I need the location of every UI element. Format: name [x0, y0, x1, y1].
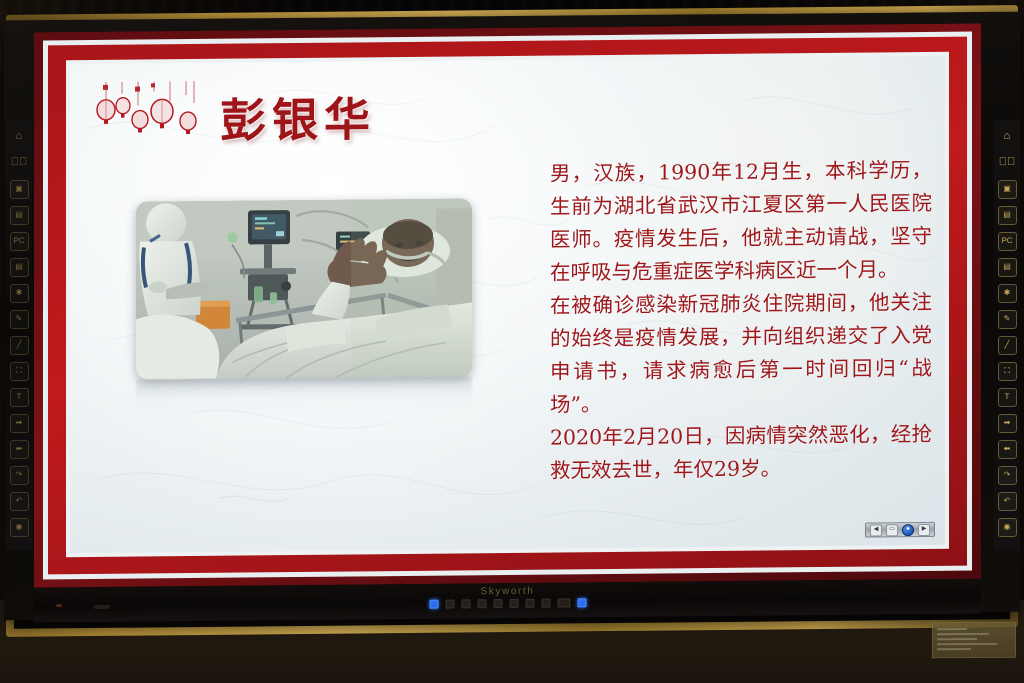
- display-screen[interactable]: 彭银华: [34, 23, 981, 587]
- text-tool-icon[interactable]: T: [998, 388, 1017, 407]
- undo-icon[interactable]: ↷: [998, 466, 1017, 485]
- record-icon[interactable]: ◉: [998, 518, 1017, 537]
- left-toolbar[interactable]: ⌂ ◀ﾟ ▣ ▤ PC ▤ ✱ ✎ ╱ ⛶ T ➡ ⬅ ↷ ↶ ◉: [6, 120, 32, 550]
- key-7[interactable]: [525, 599, 534, 608]
- pc-icon[interactable]: PC: [998, 232, 1017, 251]
- brand-logo: Skyworth: [481, 586, 535, 598]
- volume-icon[interactable]: ◀ﾟ: [998, 154, 1017, 173]
- presentation-slide[interactable]: 彭银华: [70, 56, 945, 553]
- lantern-decoration: [96, 81, 206, 144]
- pen-icon[interactable]: ✎: [10, 310, 29, 329]
- home-icon[interactable]: ⌂: [998, 128, 1017, 147]
- settings-icon[interactable]: ✱: [998, 284, 1017, 303]
- key-3[interactable]: [461, 599, 470, 608]
- previous-slide-button[interactable]: ◀: [870, 524, 882, 536]
- arrow-left-icon[interactable]: ⬅: [998, 440, 1017, 459]
- device-icon[interactable]: ▤: [10, 206, 29, 225]
- undo-icon[interactable]: ↷: [10, 466, 29, 485]
- next-slide-button[interactable]: ▶: [918, 523, 930, 535]
- pen-icon[interactable]: ✎: [998, 310, 1017, 329]
- redo-icon[interactable]: ↶: [998, 492, 1017, 511]
- paragraph-2: 在被确诊感染新冠肺炎住院期间，他关注的始终是疫情发展，并向组织递交了入党申请书，…: [550, 286, 932, 422]
- pc-icon[interactable]: PC: [10, 232, 29, 251]
- pen-options-button[interactable]: ▭: [886, 524, 898, 536]
- device-icon[interactable]: ▤: [998, 206, 1017, 225]
- key-menu[interactable]: [557, 598, 570, 607]
- record-icon[interactable]: ◉: [10, 518, 29, 537]
- key-4[interactable]: [477, 599, 486, 608]
- hdmi-icon[interactable]: ▤: [10, 258, 29, 277]
- redo-icon[interactable]: ↶: [10, 492, 29, 511]
- select-icon[interactable]: ⛶: [998, 362, 1017, 381]
- text-tool-icon[interactable]: T: [10, 388, 29, 407]
- key-6[interactable]: [509, 599, 518, 608]
- hdmi-icon[interactable]: ▤: [998, 258, 1017, 277]
- standby-led: [56, 604, 62, 607]
- key-5[interactable]: [493, 599, 502, 608]
- right-toolbar[interactable]: ⌂ ◀ﾟ ▣ ▤ PC ▤ ✱ ✎ ╱ ⛶ T ➡ ⬅ ↷ ↶ ◉: [994, 120, 1020, 550]
- arrow-right-icon[interactable]: ➡: [998, 414, 1017, 433]
- photo-reflection: [136, 376, 472, 415]
- select-icon[interactable]: ⛶: [10, 362, 29, 381]
- page-title: 彭银华: [220, 83, 376, 150]
- arrow-left-icon[interactable]: ⬅: [10, 440, 29, 459]
- line-tool-icon[interactable]: ╱: [998, 336, 1017, 355]
- key-8[interactable]: [541, 599, 550, 608]
- display-source-icon[interactable]: ▣: [998, 180, 1017, 199]
- presentation-control-bar[interactable]: ◀ ▭ ● ▶: [865, 522, 935, 538]
- settings-icon[interactable]: ✱: [10, 284, 29, 303]
- key-indicator[interactable]: [577, 598, 586, 607]
- line-tool-icon[interactable]: ╱: [10, 336, 29, 355]
- product-label-sticker: [932, 622, 1016, 659]
- screenshot-root: ⌂ ◀ﾟ ▣ ▤ PC ▤ ✱ ✎ ╱ ⛶ T ➡ ⬅ ↷ ↶ ◉ ⌂ ◀ﾟ ▣…: [0, 0, 1024, 683]
- paragraph-1: 男，汉族，1990年12月生，本科学历，生前为湖北省武汉市江夏区第一人民医院医师…: [550, 154, 932, 290]
- ir-receiver: [94, 605, 110, 609]
- hospital-photo: [136, 198, 472, 379]
- volume-icon[interactable]: ◀ﾟ: [10, 154, 29, 173]
- display-source-icon[interactable]: ▣: [10, 180, 29, 199]
- slide-menu-button[interactable]: ●: [902, 524, 914, 536]
- home-icon[interactable]: ⌂: [10, 128, 29, 147]
- hardware-key-row[interactable]: [429, 598, 586, 609]
- paragraph-3: 2020年2月20日，因病情突然恶化，经抢救无效去世，年仅29岁。: [550, 418, 932, 488]
- key-2[interactable]: [445, 600, 454, 609]
- slide-body-text: 男，汉族，1990年12月生，本科学历，生前为湖北省武汉市江夏区第一人民医院医师…: [550, 154, 932, 488]
- power-key[interactable]: [429, 600, 438, 609]
- arrow-right-icon[interactable]: ➡: [10, 414, 29, 433]
